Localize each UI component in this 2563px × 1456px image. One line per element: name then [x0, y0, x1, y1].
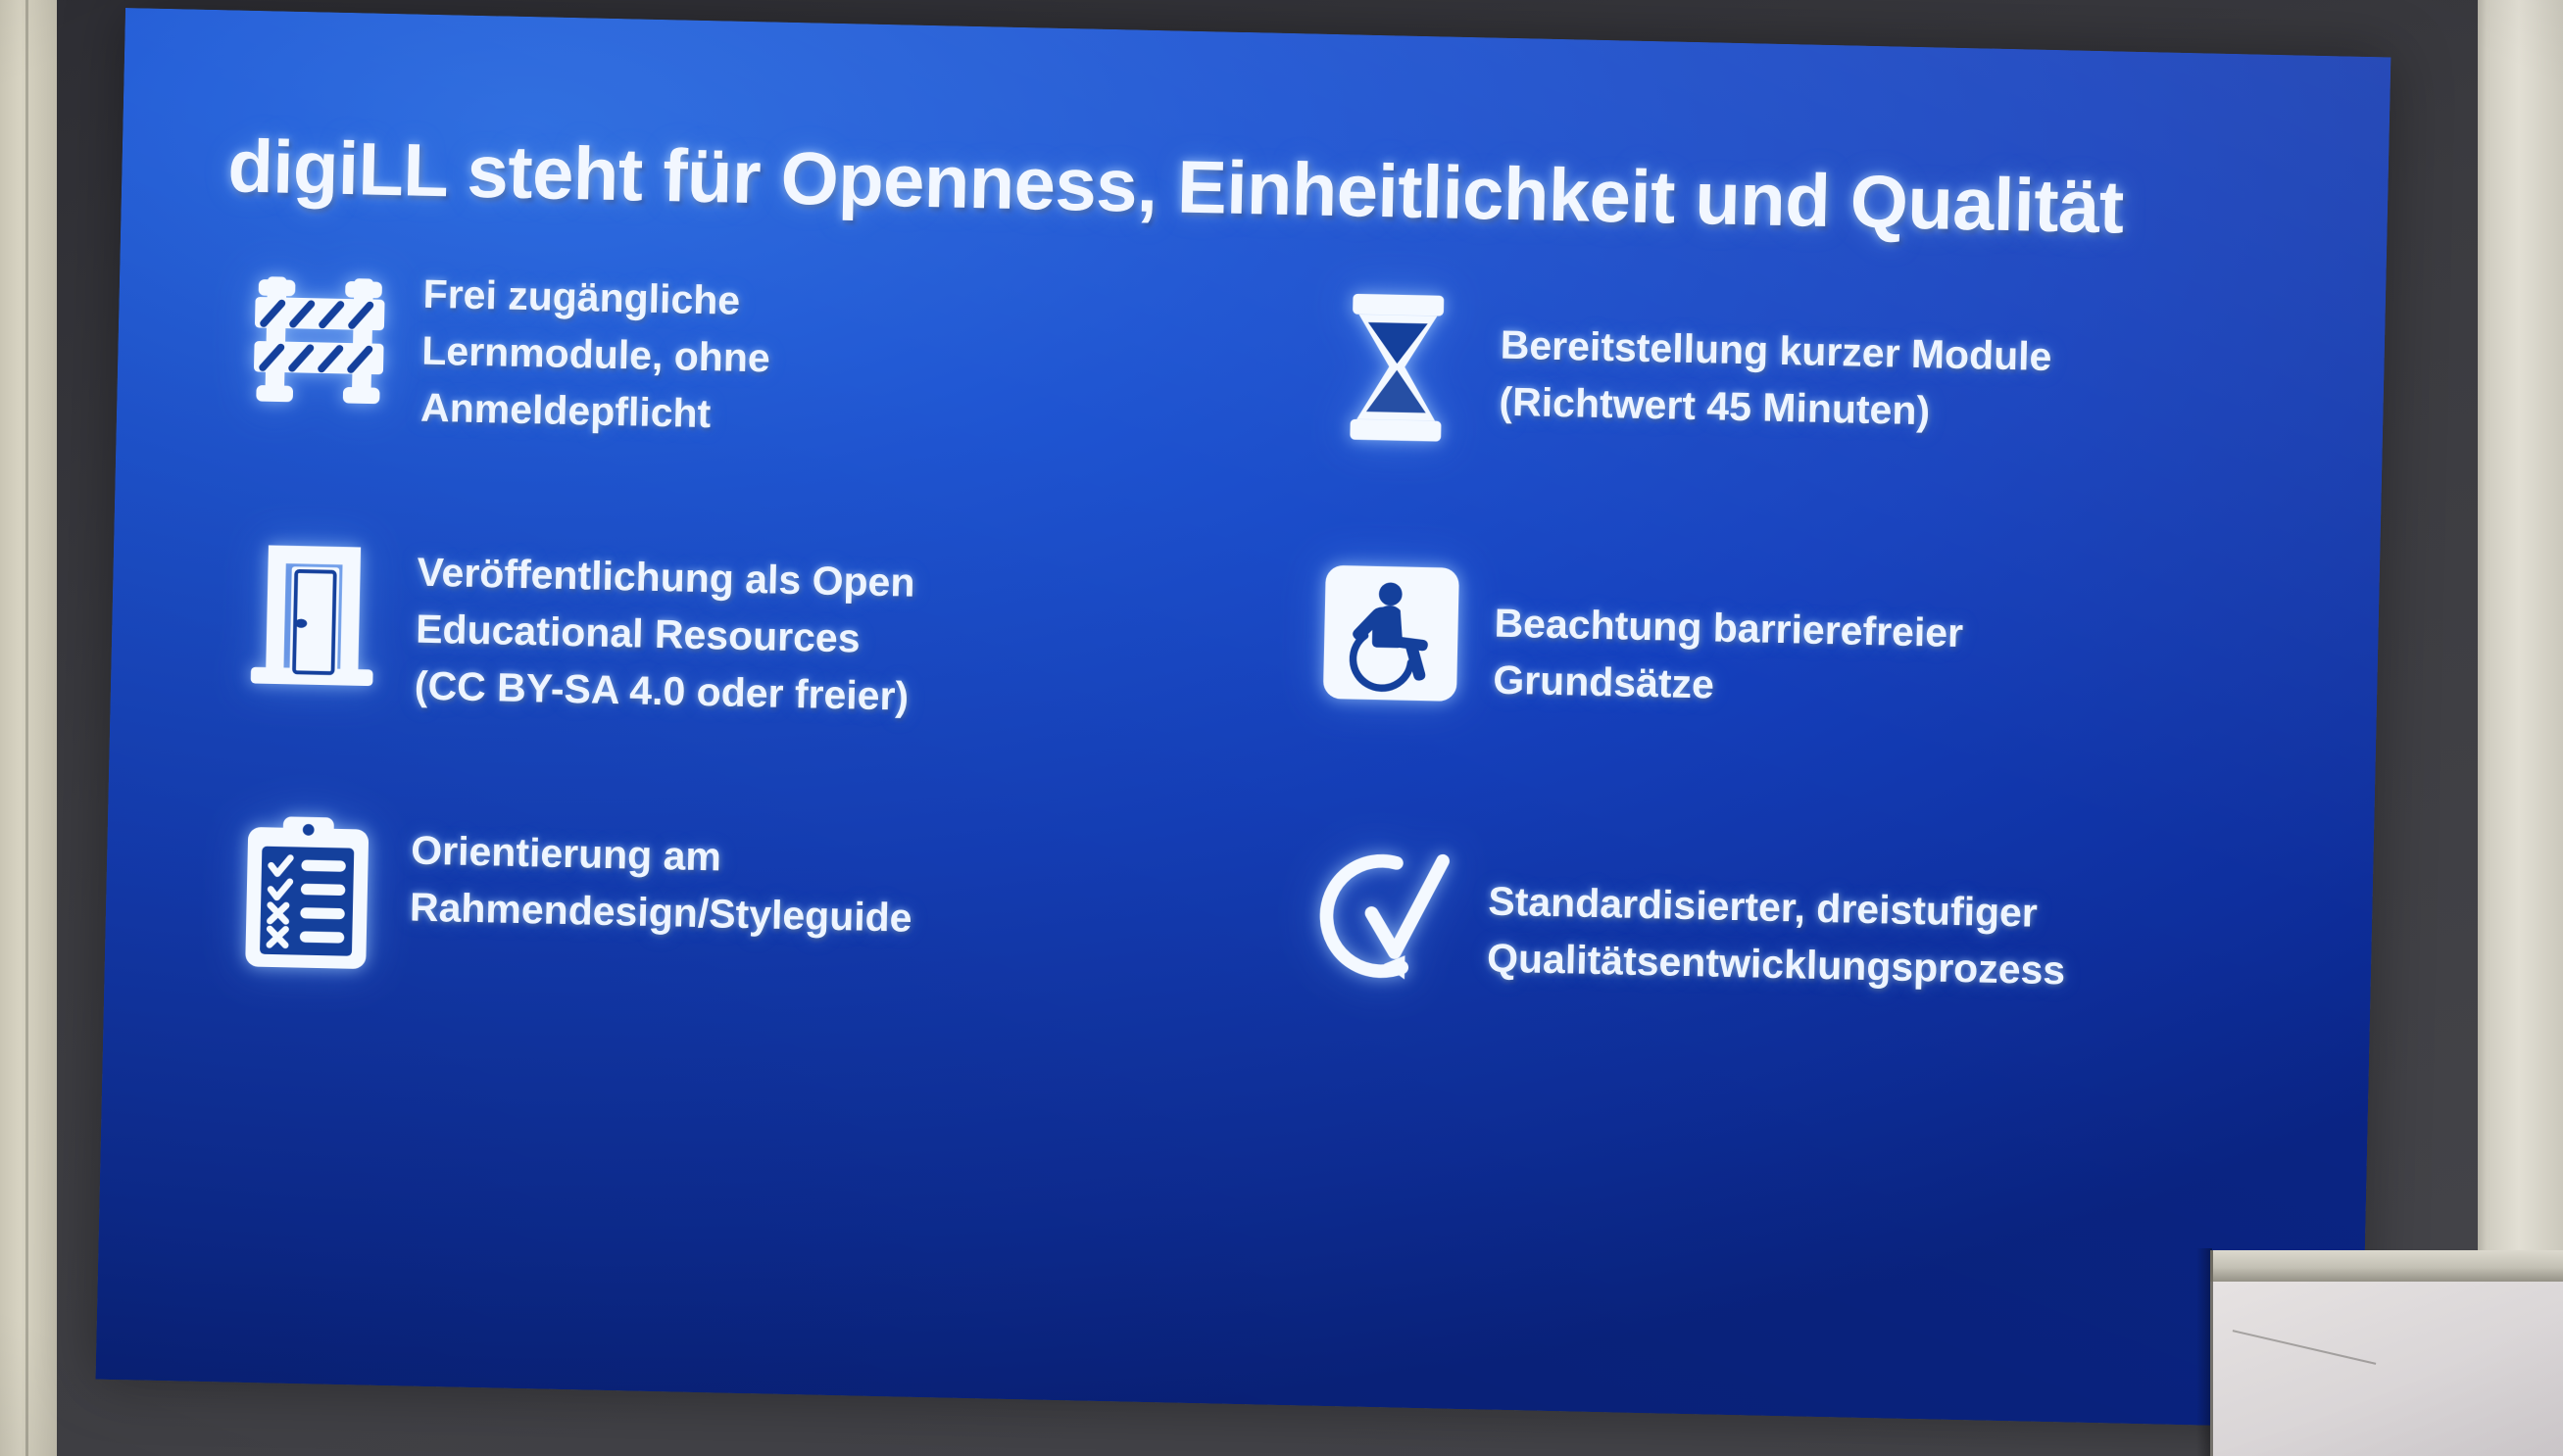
feature-item-text: Orientierung am Rahmendesign/Styleguide: [409, 814, 1215, 953]
flipchart-board: [2210, 1238, 2563, 1456]
flipchart-rail: [2210, 1250, 2563, 1284]
feature-item-bereitstellung-kurzer-module: Bereitstellung kurzer Module (Richtwert …: [1290, 276, 2305, 564]
feature-grid: Frei zugängliche Lernmodule, ohne Anmeld…: [200, 253, 2305, 1121]
room-wall-left: [0, 0, 59, 1456]
open-door-icon: [209, 531, 418, 689]
feature-item-barrierefreiheit: Beachtung barrierefreier Grundsätze: [1284, 555, 2299, 843]
hourglass-icon: [1293, 276, 1503, 448]
feature-item-qualitaetsentwicklungsprozess: Standardisierter, dreistufiger Qualitäts…: [1278, 833, 2293, 1121]
wall-seam: [25, 0, 28, 1456]
flipchart-crease: [2233, 1330, 2377, 1365]
feature-item-rahmendesign-styleguide: Orientierung am Rahmendesign/Styleguide: [200, 809, 1215, 1097]
feature-item-text: Bereitstellung kurzer Module (Richtwert …: [1499, 281, 2305, 448]
projected-slide: digiLL steht für Openness, Einheitlichke…: [95, 8, 2390, 1429]
photo-scene: digiLL steht für Openness, Einheitlichke…: [0, 0, 2563, 1456]
feature-item-text: Veröffentlichung als Open Educational Re…: [414, 536, 1221, 733]
cycle-check-icon: [1281, 833, 1490, 991]
feature-item-frei-zugaengliche-lernmodule: Frei zugängliche Lernmodule, ohne Anmeld…: [213, 253, 1228, 541]
wheelchair-accessibility-icon: [1287, 555, 1496, 708]
feature-item-text: Frei zugängliche Lernmodule, ohne Anmeld…: [420, 258, 1228, 455]
slide-content: digiLL steht für Openness, Einheitlichke…: [95, 8, 2390, 1429]
feature-item-veroeffentlichung-oer: Veröffentlichung als Open Educational Re…: [206, 531, 1221, 819]
slide-title: digiLL steht für Openness, Einheitlichke…: [227, 127, 2306, 252]
feature-item-text: Beachtung barrierefreier Grundsätze: [1493, 559, 2299, 726]
feature-item-text: Standardisierter, dreistufiger Qualitäts…: [1487, 838, 2293, 1004]
clipboard-checklist-icon: [203, 809, 413, 977]
flipchart-paper: [2210, 1282, 2563, 1456]
road-barrier-icon: [215, 253, 423, 416]
